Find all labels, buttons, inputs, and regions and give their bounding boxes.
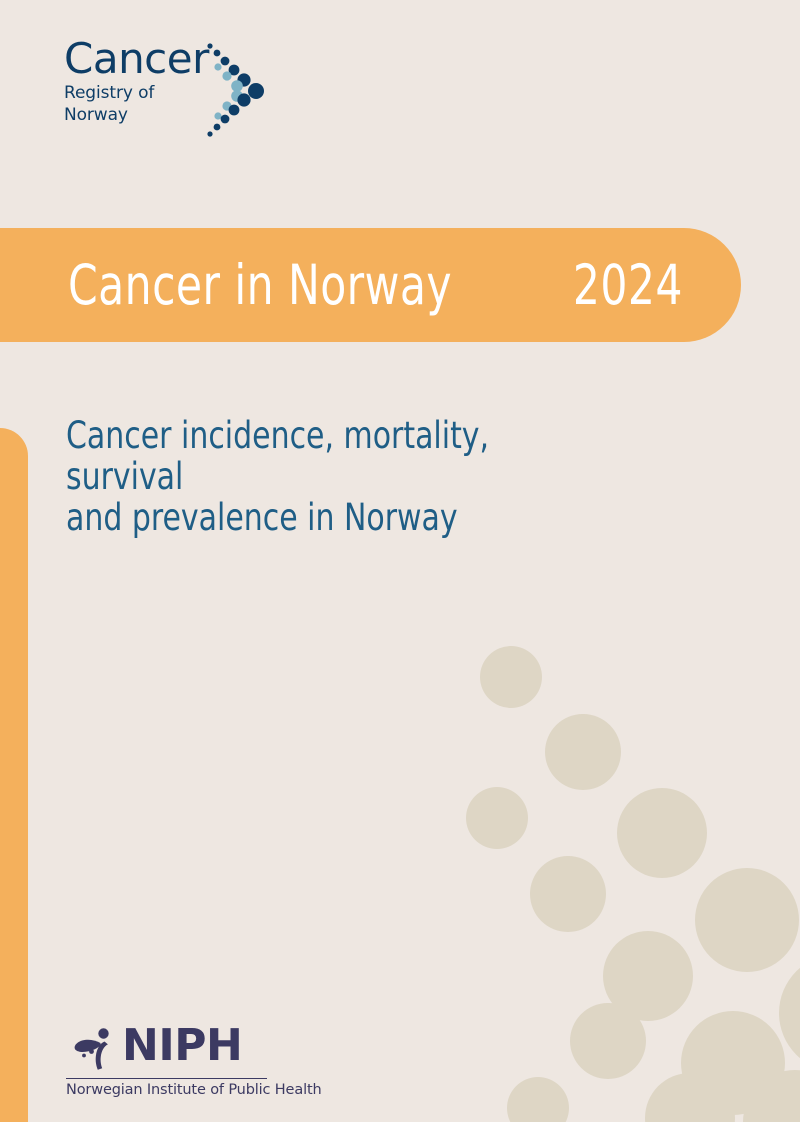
left-accent-bar bbox=[0, 428, 28, 1122]
person-figure-icon bbox=[70, 1024, 118, 1072]
title-row: Cancer in Norway 2024 bbox=[68, 228, 713, 342]
title-banner: Cancer in Norway 2024 bbox=[0, 228, 741, 342]
niph-acronym-text: NIPH bbox=[122, 1020, 242, 1072]
cancer-registry-wordmark: Cancer Registry of Norway bbox=[64, 36, 214, 126]
cancer-registry-logo: Cancer Registry of Norway bbox=[64, 36, 270, 142]
chevron-dot-mark-icon bbox=[204, 36, 274, 142]
page-subtitle: Cancer incidence, mortality, survival an… bbox=[66, 415, 570, 538]
niph-divider bbox=[66, 1078, 267, 1079]
niph-fullname-text: Norwegian Institute of Public Health bbox=[66, 1081, 322, 1100]
registry-name-text: Cancer bbox=[64, 36, 214, 82]
document-cover: Cancer Registry of Norway bbox=[0, 0, 800, 1122]
page-title: Cancer in Norway bbox=[68, 253, 452, 317]
niph-logo: NIPH Norwegian Institute of Public Healt… bbox=[66, 1022, 271, 1100]
registry-tagline-text: Registry of Norway bbox=[64, 82, 214, 126]
report-year: 2024 bbox=[573, 253, 683, 317]
chevron-dot-pattern bbox=[0, 0, 800, 1122]
